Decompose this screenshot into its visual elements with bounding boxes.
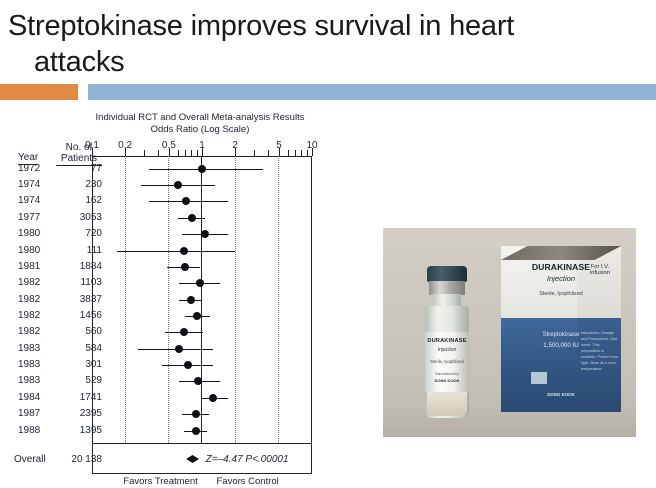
odds-ratio-point xyxy=(175,345,183,353)
row-year: 1974 xyxy=(18,195,52,206)
odds-ratio-point xyxy=(181,263,189,271)
odds-ratio-point xyxy=(196,279,204,287)
odds-ratio-point xyxy=(182,197,190,205)
vial-label-form: Injection xyxy=(425,347,469,353)
x-axis-tick xyxy=(235,148,236,156)
row-year: 1974 xyxy=(18,179,52,190)
overall-label: Overall xyxy=(14,454,46,465)
row-year: 1988 xyxy=(18,425,52,436)
row-year: 1981 xyxy=(18,261,52,272)
row-patient-count: 301 xyxy=(52,359,102,370)
carton-logo xyxy=(531,372,547,384)
divider-accent-block xyxy=(0,84,78,100)
row-patient-count: 3053 xyxy=(52,212,102,223)
gridline xyxy=(278,156,279,443)
carton-sterile: Sterile, lyophilized xyxy=(503,291,619,297)
vial-label-manufactured-by: Manufactured by xyxy=(425,372,469,376)
vial-lyophilized-powder xyxy=(427,392,467,416)
row-year: 1983 xyxy=(18,375,52,386)
row-year: 1982 xyxy=(18,310,52,321)
axis-footer-favors-treatment: Favors Treatment xyxy=(123,476,197,487)
streptokinase-vial: DURAKINASE Injection Sterile, lyophilize… xyxy=(419,266,475,418)
odds-ratio-point xyxy=(180,247,188,255)
vial-crimp-seal xyxy=(429,281,465,295)
row-year: 1980 xyxy=(18,245,52,256)
row-patient-count: 111 xyxy=(52,245,102,256)
vial-label-brand: DURAKINASE xyxy=(425,338,469,344)
row-year: 1987 xyxy=(18,408,52,419)
row-patient-count: 1741 xyxy=(52,392,102,403)
odds-ratio-point xyxy=(201,230,209,238)
row-year: 1982 xyxy=(18,326,52,337)
carton-company: DONG KOOK xyxy=(503,392,619,397)
vial-label: DURAKINASE Injection Sterile, lyophilize… xyxy=(425,332,469,392)
row-patient-count: 230 xyxy=(52,179,102,190)
row-patient-count: 529 xyxy=(52,375,102,386)
row-year: 1982 xyxy=(18,277,52,288)
title-line-1: Streptokinase improves survival in heart xyxy=(8,10,514,42)
gridline xyxy=(235,156,236,443)
vial-label-company: DONG KOOK xyxy=(425,378,469,383)
row-year: 1972 xyxy=(18,163,52,174)
odds-ratio-point xyxy=(209,394,217,402)
odds-ratio-point xyxy=(194,377,202,385)
forest-plot-figure: Individual RCT and Overall Meta-analysis… xyxy=(14,112,330,488)
carton-route: For I.V. infusion xyxy=(581,264,619,276)
product-photo: DURAKINASE Injection Sterile, lyophilize… xyxy=(383,228,636,437)
gridline xyxy=(168,156,169,443)
row-year: 1977 xyxy=(18,212,52,223)
odds-ratio-point xyxy=(184,361,192,369)
streptokinase-carton: DURAKINASE Injection Sterile, lyophilize… xyxy=(501,246,621,424)
row-patient-count: 77 xyxy=(52,163,102,174)
divider-bar xyxy=(88,84,656,100)
row-patient-count: 1103 xyxy=(52,277,102,288)
plot-area xyxy=(92,156,312,444)
x-axis-tick xyxy=(169,148,170,156)
odds-ratio-point xyxy=(192,427,200,435)
figure-title: Individual RCT and Overall Meta-analysis… xyxy=(72,112,328,136)
vial-cap xyxy=(427,266,467,282)
row-patient-count: 560 xyxy=(52,326,102,337)
odds-ratio-point xyxy=(193,312,201,320)
odds-ratio-point xyxy=(188,214,196,222)
odds-ratio-point xyxy=(174,181,182,189)
x-axis-tick xyxy=(312,148,313,156)
figure-subtitle: Odds Ratio (Log Scale) xyxy=(72,124,328,136)
row-year: 1980 xyxy=(18,228,52,239)
row-patient-count: 1456 xyxy=(52,310,102,321)
row-patient-count: 720 xyxy=(52,228,102,239)
odds-ratio-point xyxy=(187,296,195,304)
x-axis-tick xyxy=(202,148,203,156)
title-line-2: attacks xyxy=(8,44,608,80)
gridline xyxy=(125,156,126,443)
carton-side-info: Indications, Dosage and Precautions, See… xyxy=(581,330,619,372)
overall-statistic: Z=–4.47 P<.00001 xyxy=(206,454,289,465)
row-year: 1982 xyxy=(18,294,52,305)
axis-footer-favors-control: Favors Control xyxy=(216,476,278,487)
odds-ratio-point xyxy=(198,165,206,173)
odds-ratio-point xyxy=(192,410,200,418)
row-patient-count: 162 xyxy=(52,195,102,206)
confidence-interval-line xyxy=(117,251,235,252)
row-patient-count: 584 xyxy=(52,343,102,354)
row-patient-count: 2395 xyxy=(52,408,102,419)
vial-label-sterile: Sterile, lyophilized xyxy=(425,359,469,364)
x-axis-tick xyxy=(279,148,280,156)
x-axis-tick xyxy=(125,148,126,156)
title-divider xyxy=(0,84,656,100)
row-year: 1983 xyxy=(18,343,52,354)
row-patient-count: 1884 xyxy=(52,261,102,272)
overall-patient-count: 20 138 xyxy=(52,454,102,465)
row-year: 1983 xyxy=(18,359,52,370)
odds-ratio-point xyxy=(180,328,188,336)
row-patient-count: 3837 xyxy=(52,294,102,305)
row-year: 1984 xyxy=(18,392,52,403)
figure-title-line-1: Individual RCT and Overall Meta-analysis… xyxy=(72,112,328,124)
page-title: Streptokinase improves survival in heart… xyxy=(8,8,608,80)
row-patient-count: 1395 xyxy=(52,425,102,436)
x-axis-tick xyxy=(92,148,93,156)
